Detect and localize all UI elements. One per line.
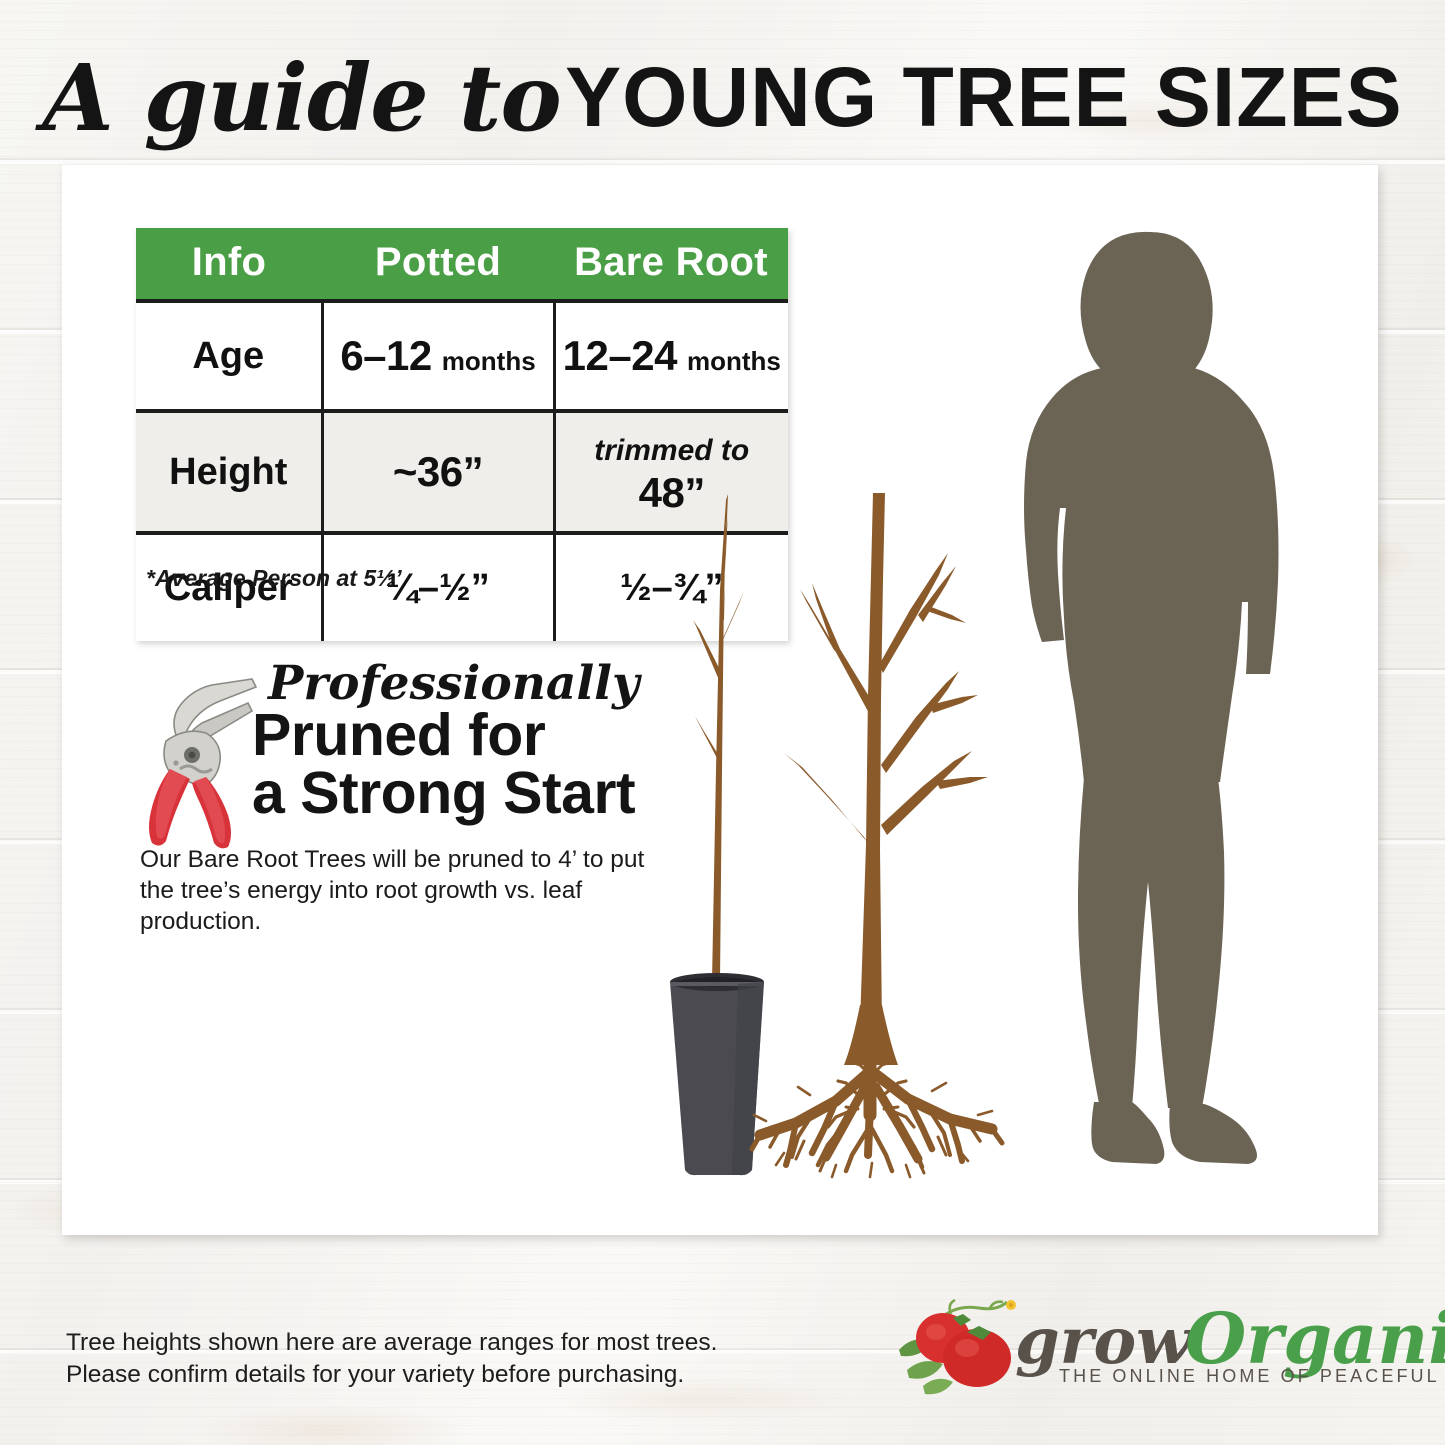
tomato-cluster-icon bbox=[893, 1296, 1023, 1408]
cell-age-potted: 6–12 months bbox=[322, 301, 554, 411]
cell-age-bareroot: 12–24 months bbox=[554, 301, 788, 411]
cell-age-bareroot-value: 12–24 bbox=[563, 332, 677, 379]
pruned-body-line-2: the tree’s energy into root growth vs. l… bbox=[140, 876, 670, 938]
pruned-body-line-1: Our Bare Root Trees will be pruned to 4’… bbox=[140, 845, 670, 876]
column-header-bareroot: Bare Root bbox=[554, 228, 788, 301]
table-footnote: *Average Person at 5½’ bbox=[146, 565, 402, 592]
footer-disclaimer-line-2: Please confirm details for your variety … bbox=[66, 1359, 717, 1391]
cell-height-bareroot-prefix: trimmed to bbox=[594, 434, 749, 467]
row-label-height: Height bbox=[136, 411, 322, 533]
page-title-block: YOUNG TREE SIZES bbox=[565, 50, 1402, 144]
footer-disclaimer-line-1: Tree heights shown here are average rang… bbox=[66, 1327, 717, 1359]
person-silhouette bbox=[980, 222, 1320, 1192]
page-title: A guide to YOUNG TREE SIZES bbox=[0, 44, 1445, 152]
cell-height-potted: ~36” bbox=[322, 411, 554, 533]
cell-age-potted-value: 6–12 bbox=[340, 332, 431, 379]
footer-disclaimer: Tree heights shown here are average rang… bbox=[66, 1327, 717, 1391]
row-label-age: Age bbox=[136, 301, 322, 411]
pruning-shears-icon bbox=[140, 665, 260, 850]
pruned-body-text: Our Bare Root Trees will be pruned to 4’… bbox=[140, 845, 670, 938]
pruned-heading-group: Professionally Pruned for a Strong Start bbox=[252, 660, 672, 823]
table-row: Age 6–12 months 12–24 months bbox=[136, 301, 788, 411]
column-header-potted: Potted bbox=[322, 228, 554, 301]
logo-tagline: THE ONLINE HOME OF PEACEFUL VALLEY bbox=[1059, 1366, 1445, 1387]
cell-age-bareroot-unit: months bbox=[687, 346, 781, 376]
page-title-script: A guide to bbox=[42, 44, 560, 152]
brand-logo[interactable]: growOrganic.COM THE ONLINE HOME OF PEACE… bbox=[893, 1296, 1393, 1408]
table-header-row: Info Potted Bare Root bbox=[136, 228, 788, 301]
pruned-script-line: Professionally bbox=[268, 660, 672, 707]
logo-wordmark: growOrganic.COM bbox=[1015, 1304, 1445, 1374]
column-header-info: Info bbox=[136, 228, 322, 301]
pruned-line-2: a Strong Start bbox=[252, 765, 672, 823]
pruned-line-1: Pruned for bbox=[252, 707, 672, 765]
cell-age-potted-unit: months bbox=[442, 346, 536, 376]
cell-height-potted-value: ~36” bbox=[393, 448, 483, 495]
